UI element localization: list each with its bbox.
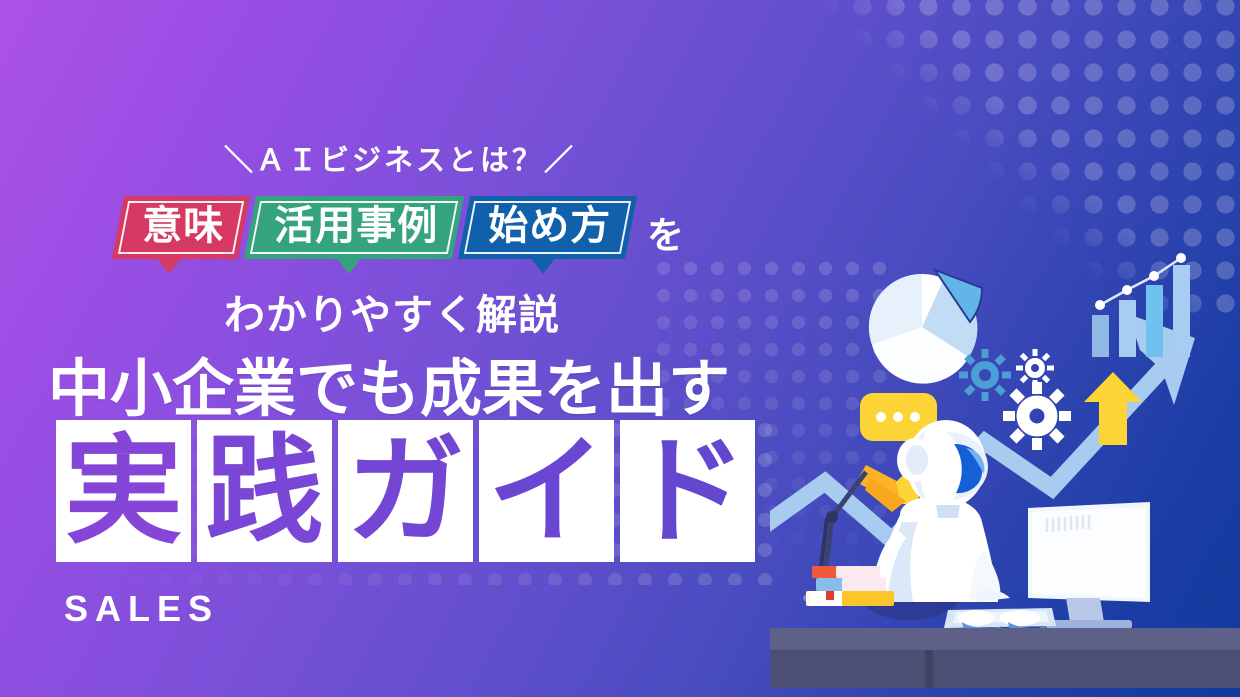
tag-suffix-text: を (647, 197, 684, 259)
tag-label: 活用事例 (274, 205, 438, 248)
gear-icon (959, 349, 1011, 401)
copy-block: ＼ＡＩビジネスとは？／ 意味 活用事例 始め方 を わかりやすく解説 中小企業で… (0, 0, 800, 697)
boxed-char: ガ (338, 420, 473, 562)
banner-canvas: ＼ＡＩビジネスとは？／ 意味 活用事例 始め方 を わかりやすく解説 中小企業で… (0, 0, 1240, 697)
tag-item-howtostart: 始め方 (464, 196, 631, 259)
boxed-char: 践 (197, 420, 332, 562)
gear-icon (1003, 382, 1071, 450)
pie-chart-icon (869, 270, 982, 384)
kicker-text: ＼ＡＩビジネスとは？／ (224, 137, 576, 179)
headline: 中小企業でも成果を出す (48, 338, 730, 428)
tag-tail-icon (156, 257, 182, 274)
gear-icon (1016, 349, 1054, 387)
tag-tail-icon (530, 257, 556, 274)
tag-row: 意味 活用事例 始め方 を (118, 196, 684, 259)
boxed-word-row: 実 践 ガ イ ド (56, 420, 755, 562)
tag-label: 始め方 (488, 205, 611, 248)
tag-item-usecases: 活用事例 (250, 196, 458, 259)
tag-label: 意味 (142, 205, 224, 248)
boxed-char: ド (620, 420, 755, 562)
tag-item-meaning: 意味 (118, 196, 244, 259)
boxed-char: イ (479, 420, 614, 562)
desk-surface (770, 628, 1240, 688)
ai-robot-workdesk-illustration (770, 250, 1240, 697)
brand-label: SALES (64, 588, 219, 630)
subheadline: わかりやすく解説 (224, 281, 560, 341)
boxed-char: 実 (56, 420, 191, 562)
tag-tail-icon (336, 257, 362, 274)
